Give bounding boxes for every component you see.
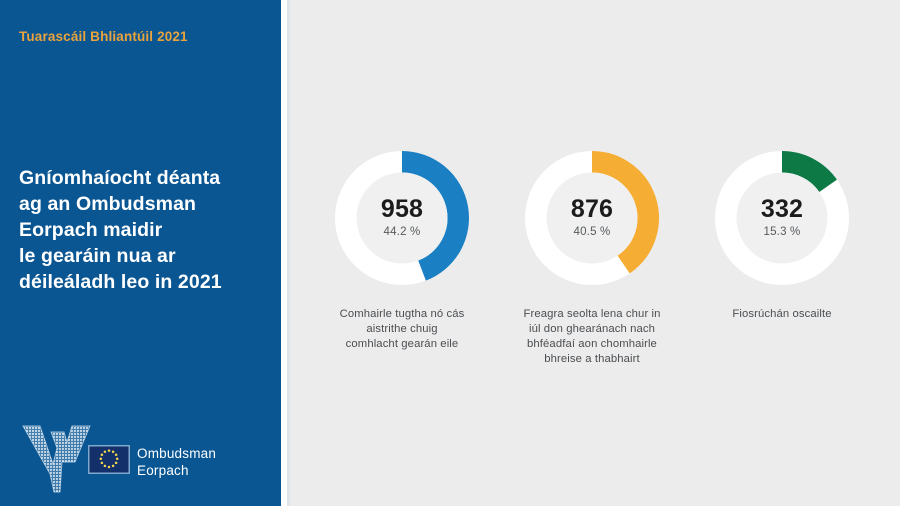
logo-text: Ombudsman Eorpach bbox=[137, 446, 216, 479]
donut-caption-line: Fiosrúchán oscailte bbox=[682, 307, 882, 322]
donut-chart-card: 332 15.3 % Fiosrúchán oscailte bbox=[682, 144, 882, 322]
donut-chart-svg bbox=[328, 144, 476, 292]
page-title-line: déileáladh leo in 2021 bbox=[19, 269, 267, 295]
page-title: Gníomhaíocht déanta ag an Ombudsman Eorp… bbox=[19, 165, 267, 295]
report-label: Tuarascáil Bhliantúil 2021 bbox=[19, 29, 188, 44]
logo-text-line: Ombudsman bbox=[137, 446, 216, 463]
donut-chart: 876 40.5 % bbox=[518, 144, 666, 292]
donut-caption-line: Comhairle tugtha nó cás bbox=[302, 307, 502, 322]
eu-flag-icon bbox=[88, 445, 130, 474]
donut-caption-line: Freagra seolta lena chur in bbox=[492, 307, 692, 322]
page-title-line: le gearáin nua ar bbox=[19, 243, 267, 269]
donut-chart-svg bbox=[708, 144, 856, 292]
donut-chart-card: 876 40.5 % Freagra seolta lena chur in i… bbox=[492, 144, 692, 367]
donut-caption-line: comhlacht gearán eile bbox=[302, 337, 502, 352]
donut-caption: Comhairle tugtha nó cás aistrithe chuig … bbox=[302, 307, 502, 352]
page-title-line: Eorpach maidir bbox=[19, 217, 267, 243]
donut-chart-card: 958 44.2 % Comhairle tugtha nó cás aistr… bbox=[302, 144, 502, 352]
european-ombudsman-logo: Ombudsman Eorpach bbox=[20, 418, 220, 494]
page-title-line: ag an Ombudsman bbox=[19, 191, 267, 217]
donut-caption-line: bhreise a thabhairt bbox=[492, 352, 692, 367]
donut-chart: 332 15.3 % bbox=[708, 144, 856, 292]
donut-chart-row: 958 44.2 % Comhairle tugtha nó cás aistr… bbox=[290, 0, 900, 506]
donut-caption: Fiosrúchán oscailte bbox=[682, 307, 882, 322]
donut-chart: 958 44.2 % bbox=[328, 144, 476, 292]
page-title-line: Gníomhaíocht déanta bbox=[19, 165, 267, 191]
donut-inner-disc bbox=[357, 173, 448, 264]
donut-caption: Freagra seolta lena chur in iúl don ghea… bbox=[492, 307, 692, 367]
infographic-slide: Tuarascáil Bhliantúil 2021 Gníomhaíocht … bbox=[0, 0, 900, 506]
european-ombudsman-dove-v-mark bbox=[20, 418, 96, 494]
donut-chart-svg bbox=[518, 144, 666, 292]
donut-caption-line: iúl don ghearánach nach bbox=[492, 322, 692, 337]
donut-inner-disc bbox=[737, 173, 828, 264]
donut-caption-line: bhféadfaí aon chomhairle bbox=[492, 337, 692, 352]
donut-caption-line: aistrithe chuig bbox=[302, 322, 502, 337]
logo-text-line: Eorpach bbox=[137, 463, 216, 480]
donut-inner-disc bbox=[547, 173, 638, 264]
